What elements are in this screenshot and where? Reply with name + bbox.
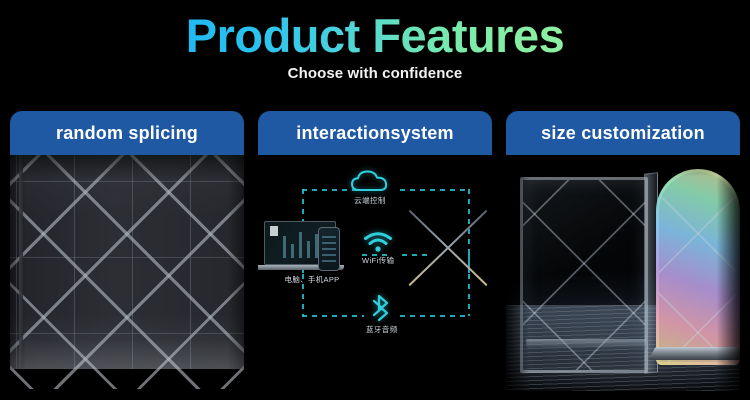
panel-header-random-splicing: random splicing [10,111,244,155]
panel-title-random-splicing: random splicing [56,123,198,144]
phone-device [318,227,340,271]
feature-panel-random-splicing[interactable]: random splicing [10,111,244,391]
laptop-ui-block [270,226,278,236]
glass-panel-arched [656,169,740,365]
diagram-node-cloud: 云端控制 [350,169,390,206]
connector-bottom-right [400,315,470,317]
feature-panel-row: random splicing interactionsystem [0,111,750,400]
glass-panel-rectangular-base [526,339,646,349]
lattice-screen-image [10,155,244,369]
interaction-diagram: 云端控制 WiFi传输 蓝牙音 [258,155,492,391]
panel-body-size-customization [506,155,740,391]
phone-screen-ui [322,236,336,264]
connector-top-right [400,189,470,191]
cloud-icon [350,169,390,193]
laptop-phone-icon [264,221,340,270]
wifi-icon [363,231,393,253]
panel-title-size-customization: size customization [541,123,705,144]
diagram-node-devices: 电脑、手机APP [264,221,360,285]
panel-header-size-customization: size customization [506,111,740,155]
panel-body-random-splicing [10,155,244,391]
panel-body-interaction-system: 云端控制 WiFi传输 蓝牙音 [258,155,492,391]
diagram-label-devices: 电脑、手机APP [264,274,360,285]
page-subtitle: Choose with confidence [0,65,750,82]
feature-panel-size-customization[interactable]: size customization [506,111,740,391]
diagram-label-wifi: WiFi传输 [362,255,394,266]
connector-bottom-left [302,315,364,317]
page-header: Product Features Choose with confidence [0,0,750,82]
glass-panel-arched-base [648,347,740,360]
laptop-ui-bar [299,232,302,258]
laptop-ui-bar [283,236,286,258]
page-title: Product Features [186,12,565,59]
panel-title-interaction-system: interactionsystem [296,123,453,144]
glass-panels-image [506,155,740,391]
diagram-label-cloud: 云端控制 [354,195,386,206]
diagram-label-bluetooth: 蓝牙音频 [366,324,398,335]
diagram-node-bluetooth: 蓝牙音频 [366,294,398,335]
x-frame-icon [410,207,486,289]
diagram-node-wifi: WiFi传输 [362,231,394,266]
laptop-ui-bar [307,241,310,258]
laptop-ui-bar [291,244,294,258]
feature-panel-interaction-system[interactable]: interactionsystem [258,111,492,391]
bluetooth-icon [371,294,393,322]
panel-header-interaction-system: interactionsystem [258,111,492,155]
lattice-vignette [10,155,244,369]
